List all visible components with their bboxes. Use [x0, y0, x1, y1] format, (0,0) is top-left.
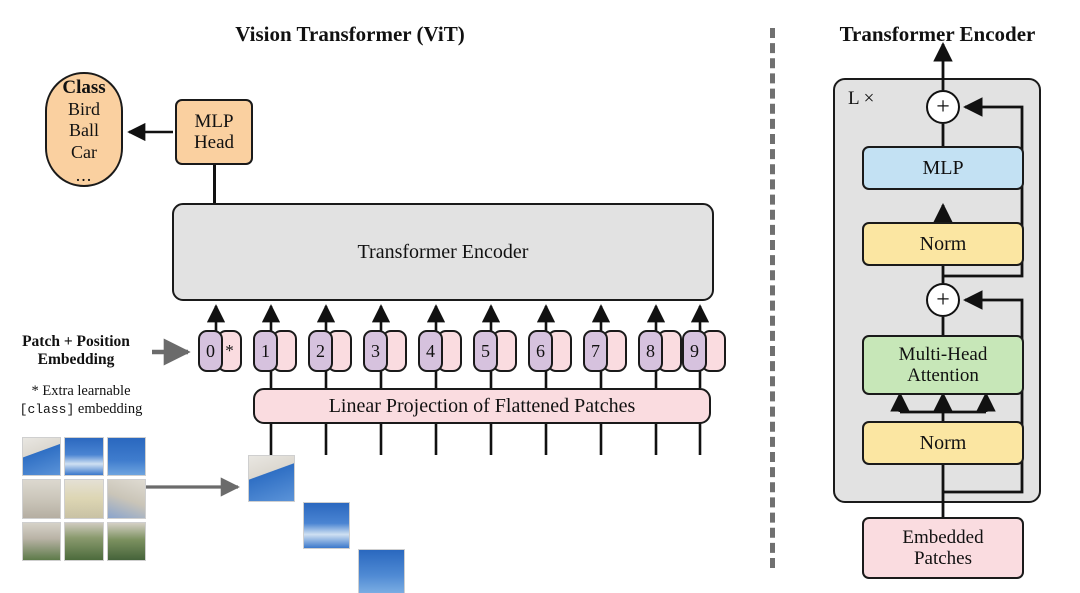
- sequence-patch: [358, 549, 405, 593]
- embedded-patches-block: Embedded Patches: [862, 517, 1024, 579]
- patch-grid-cell: [64, 437, 103, 476]
- footnote-line1: * Extra learnable: [6, 382, 156, 400]
- linear-projection-label: Linear Projection of Flattened Patches: [329, 395, 636, 417]
- attention-line1: Multi-Head: [899, 344, 988, 365]
- patch-grid-cell: [22, 437, 61, 476]
- norm-block-top: Norm: [862, 222, 1024, 266]
- mlp-head-line1: MLP: [194, 111, 233, 132]
- embedded-patches-line1: Embedded: [902, 527, 983, 548]
- token-number-0: 0: [198, 330, 223, 372]
- class-output-pill: Class Bird Ball Car ...: [45, 72, 123, 187]
- footnote-mono-token: [class]: [20, 402, 75, 417]
- vit-architecture-figure: Vision Transformer (ViT) Class Bird Ball…: [0, 0, 1080, 593]
- token-number-4: 4: [418, 330, 443, 372]
- residual-add-bottom: +: [926, 283, 960, 317]
- sequence-patch: [248, 455, 295, 502]
- embedding-label-line2: Embedding: [6, 351, 146, 369]
- patch-grid-cell: [64, 522, 103, 561]
- footnote-line2: [class] embedding: [6, 400, 156, 418]
- patch-grid-cell: [107, 522, 146, 561]
- class-item-car: Car: [71, 142, 97, 163]
- attention-line2: Attention: [907, 365, 979, 386]
- token-number-9: 9: [682, 330, 707, 372]
- patch-grid-cell: [22, 479, 61, 518]
- token-number-8: 8: [638, 330, 663, 372]
- class-heading: Class: [62, 77, 105, 99]
- class-token-footnote: * Extra learnable [class] embedding: [6, 382, 156, 418]
- residual-add-top: +: [926, 90, 960, 124]
- token-number-5: 5: [473, 330, 498, 372]
- repeat-count-label: L ×: [848, 88, 874, 110]
- patch-grid-cell: [22, 522, 61, 561]
- norm-bottom-label: Norm: [920, 432, 967, 454]
- class-ellipsis: ...: [76, 166, 93, 184]
- patch-grid-cell: [107, 437, 146, 476]
- footnote-tail: embedding: [74, 401, 142, 417]
- token-number-3: 3: [363, 330, 388, 372]
- embedding-label-line1: Patch + Position: [6, 333, 146, 351]
- source-image-patch-grid: [22, 437, 146, 561]
- norm-block-bottom: Norm: [862, 421, 1024, 465]
- sequence-patch: [303, 502, 350, 549]
- multi-head-attention-block: Multi-Head Attention: [862, 335, 1024, 395]
- transformer-encoder-box: Transformer Encoder: [172, 203, 714, 301]
- mlp-head-line2: Head: [194, 132, 234, 153]
- mlp-head-box: MLP Head: [175, 99, 253, 165]
- token-number-7: 7: [583, 330, 608, 372]
- norm-top-label: Norm: [920, 233, 967, 255]
- token-number-6: 6: [528, 330, 553, 372]
- transformer-encoder-label: Transformer Encoder: [358, 241, 529, 263]
- patch-grid-cell: [64, 479, 103, 518]
- token-number-1: 1: [253, 330, 278, 372]
- panel-divider: [770, 28, 775, 568]
- line-mlp-to-encoder: [213, 165, 216, 204]
- class-item-ball: Ball: [69, 120, 99, 141]
- left-panel-title: Vision Transformer (ViT): [200, 22, 500, 47]
- linear-projection-box: Linear Projection of Flattened Patches: [253, 388, 711, 424]
- embedded-patches-line2: Patches: [914, 548, 972, 569]
- patch-position-embedding-label: Patch + Position Embedding: [6, 333, 146, 369]
- mlp-block-label: MLP: [922, 157, 963, 179]
- patch-grid-cell: [107, 479, 146, 518]
- mlp-block: MLP: [862, 146, 1024, 190]
- token-number-2: 2: [308, 330, 333, 372]
- right-panel-title: Transformer Encoder: [795, 22, 1080, 47]
- class-item-bird: Bird: [68, 99, 100, 120]
